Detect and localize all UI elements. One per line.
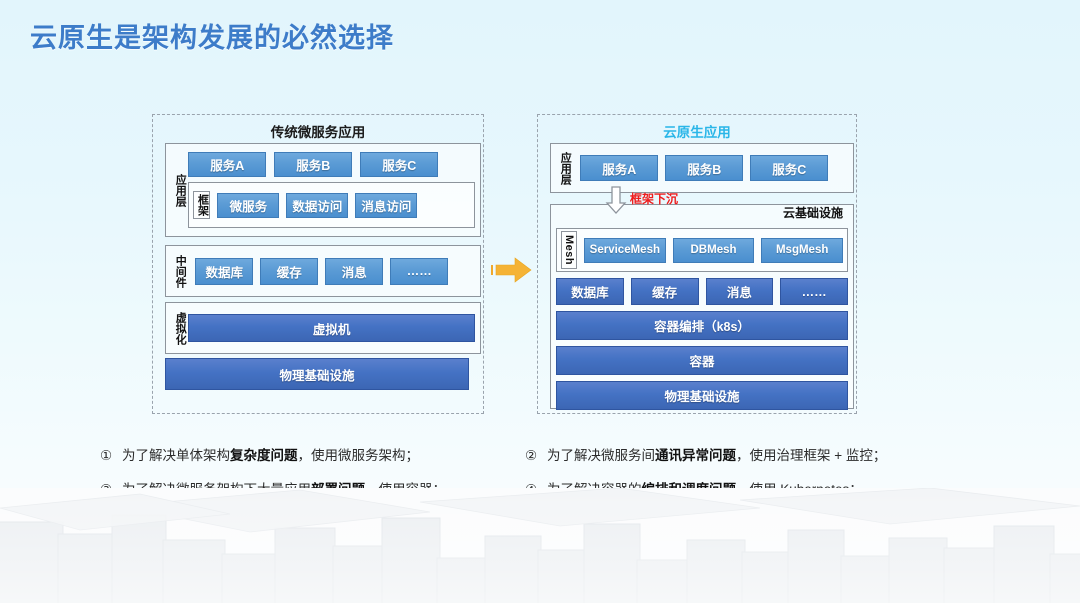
cloud-infrastructure-label: 云基础设施 xyxy=(783,204,843,221)
chip-middleware-message[interactable]: 消息 xyxy=(325,258,383,285)
left-virtualization-label: 虚拟化 xyxy=(171,312,188,345)
left-app-layer-group: 应用层 服务A 服务B 服务C 框架 微服务 数据访问 消息访问 xyxy=(165,143,481,237)
page-title: 云原生是架构发展的必然选择 xyxy=(30,16,394,55)
note-number: ② xyxy=(525,448,547,465)
note-text: 为了让ServiceMesh 有更好的底层支撑，将其运行在 k8s上。 xyxy=(547,516,910,533)
chip-right-physical-infrastructure[interactable]: 物理基础设施 xyxy=(556,381,848,410)
left-framework-group: 框架 微服务 数据访问 消息访问 xyxy=(188,182,475,228)
list-item: ③ 为了解决微服务架构下大量应用部署问题，使用容器； xyxy=(100,482,530,499)
chip-cloud-message[interactable]: 消息 xyxy=(706,278,774,305)
chip-service-b[interactable]: 服务B xyxy=(274,152,352,177)
right-app-layer-label: 应用层 xyxy=(556,152,573,185)
chip-middleware-database[interactable]: 数据库 xyxy=(195,258,253,285)
note-number: ⑥ xyxy=(525,516,547,533)
left-virtualization-group: 虚拟化 虚拟机 xyxy=(165,302,481,354)
notes-section: ① 为了解决单体架构复杂度问题，使用微服务架构； ③ 为了解决微服务架构下大量应… xyxy=(0,448,1080,558)
chip-servicemesh[interactable]: ServiceMesh xyxy=(584,238,666,263)
note-number: ④ xyxy=(525,482,547,499)
chip-left-physical-infrastructure[interactable]: 物理基础设施 xyxy=(165,358,469,390)
notes-column-right: ② 为了解决微服务间通讯异常问题，使用治理框架 + 监控； ④ 为了解决容器的编… xyxy=(525,448,995,550)
chip-framework-data-access[interactable]: 数据访问 xyxy=(286,193,348,218)
chip-cloud-cache[interactable]: 缓存 xyxy=(631,278,699,305)
list-item: ⑤ 为了解决微服务框架的侵入性问题，使用 ServiceMesh； xyxy=(100,516,530,533)
note-text: 为了解决微服务架构下大量应用部署问题，使用容器； xyxy=(122,482,446,499)
chip-framework-msg-access[interactable]: 消息访问 xyxy=(355,193,417,218)
list-item: ① 为了解决单体架构复杂度问题，使用微服务架构； xyxy=(100,448,530,465)
chip-middleware-cache[interactable]: 缓存 xyxy=(260,258,318,285)
cloud-infrastructure-group: 云基础设施 Mesh ServiceMesh DBMesh MsgMesh 数据… xyxy=(550,204,854,409)
chip-cloud-service-b[interactable]: 服务B xyxy=(665,155,743,181)
left-app-layer-label: 应用层 xyxy=(171,174,188,207)
traditional-microservice-panel: 传统微服务应用 应用层 服务A 服务B 服务C 框架 微服务 数据访问 消息访问… xyxy=(152,114,484,414)
list-item: ② 为了解决微服务间通讯异常问题，使用治理框架 + 监控； xyxy=(525,448,995,465)
chip-middleware-more[interactable]: …… xyxy=(390,258,448,285)
mesh-label: Mesh xyxy=(561,231,577,269)
chip-service-c[interactable]: 服务C xyxy=(360,152,438,177)
chip-msgmesh[interactable]: MsgMesh xyxy=(761,238,843,263)
note-text: 为了解决容器的编排和调度问题，使用 Kubernetes； xyxy=(547,482,863,499)
left-panel-title: 传统微服务应用 xyxy=(153,121,483,141)
note-text: 为了解决单体架构复杂度问题，使用微服务架构； xyxy=(122,448,419,465)
framework-sink-label: 框架下沉 xyxy=(630,190,678,207)
framework-sink-arrow xyxy=(605,186,627,214)
note-number: ③ xyxy=(100,482,122,499)
arrow-down-icon xyxy=(605,186,627,214)
right-panel-title: 云原生应用 xyxy=(538,121,856,141)
arrow-right-icon xyxy=(489,255,533,285)
note-text: 为了解决微服务框架的侵入性问题，使用 ServiceMesh； xyxy=(122,516,460,533)
left-middleware-label: 中间件 xyxy=(171,255,188,288)
note-number: ① xyxy=(100,448,122,465)
chip-cloud-database[interactable]: 数据库 xyxy=(556,278,624,305)
chip-cloud-service-c[interactable]: 服务C xyxy=(750,155,828,181)
transition-arrow xyxy=(489,255,533,285)
chip-framework-microservice[interactable]: 微服务 xyxy=(217,193,279,218)
chip-container-orchestration[interactable]: 容器编排（k8s） xyxy=(556,311,848,340)
cloud-native-panel: 云原生应用 应用层 服务A 服务B 服务C 云基础设施 Mesh Service… xyxy=(537,114,857,414)
chip-cloud-service-a[interactable]: 服务A xyxy=(580,155,658,181)
chip-virtual-machine[interactable]: 虚拟机 xyxy=(188,314,475,342)
note-text: 为了解决微服务间通讯异常问题，使用治理框架 + 监控； xyxy=(547,448,886,465)
note-number: ⑤ xyxy=(100,516,122,533)
chip-dbmesh[interactable]: DBMesh xyxy=(673,238,755,263)
mesh-group: Mesh ServiceMesh DBMesh MsgMesh xyxy=(556,228,848,272)
list-item: ⑥ 为了让ServiceMesh 有更好的底层支撑，将其运行在 k8s上。 xyxy=(525,516,995,533)
chip-container[interactable]: 容器 xyxy=(556,346,848,375)
chip-cloud-more[interactable]: …… xyxy=(780,278,848,305)
notes-column-left: ① 为了解决单体架构复杂度问题，使用微服务架构； ③ 为了解决微服务架构下大量应… xyxy=(100,448,530,550)
list-item: ④ 为了解决容器的编排和调度问题，使用 Kubernetes； xyxy=(525,482,995,499)
chip-service-a[interactable]: 服务A xyxy=(188,152,266,177)
cloud-middleware-row: 数据库 缓存 消息 …… xyxy=(556,278,848,305)
left-services-row: 服务A 服务B 服务C xyxy=(188,152,475,177)
left-middleware-group: 中间件 数据库 缓存 消息 …… xyxy=(165,245,481,297)
left-framework-label: 框架 xyxy=(193,191,210,219)
right-app-layer-group: 应用层 服务A 服务B 服务C xyxy=(550,143,854,193)
